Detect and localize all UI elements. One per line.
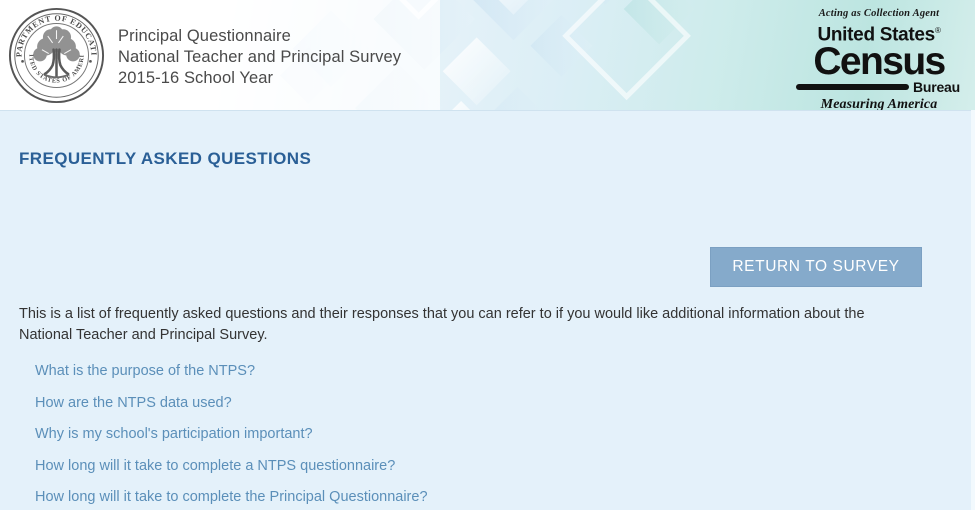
census-bureau-logo: Acting as Collection Agent United States… bbox=[796, 8, 962, 110]
faq-page: DEPARTMENT OF EDUCATION UNITED STATES OF… bbox=[0, 0, 975, 510]
header-title-block: Principal Questionnaire National Teacher… bbox=[118, 26, 401, 89]
list-item: What is the purpose of the NTPS? bbox=[35, 362, 935, 394]
list-item: Why is my school's participation importa… bbox=[35, 425, 935, 457]
list-item: How long will it take to complete the Pr… bbox=[35, 488, 935, 510]
page-title: FREQUENTLY ASKED QUESTIONS bbox=[19, 149, 311, 169]
census-collection-agent-text: Acting as Collection Agent bbox=[796, 8, 962, 20]
faq-link-purpose[interactable]: What is the purpose of the NTPS? bbox=[35, 362, 255, 381]
return-to-survey-button[interactable]: RETURN TO SURVEY bbox=[710, 247, 922, 287]
census-united-states-text: United States® bbox=[817, 20, 940, 45]
census-wordmark: Census bbox=[796, 44, 962, 79]
header-title-line-2: National Teacher and Principal Survey bbox=[118, 47, 401, 68]
census-trademark: ® bbox=[935, 26, 941, 35]
census-rule-bar bbox=[796, 84, 909, 90]
header-title-line-3: 2015-16 School Year bbox=[118, 68, 401, 89]
faq-link-list: What is the purpose of the NTPS? How are… bbox=[35, 362, 935, 510]
main-content: FREQUENTLY ASKED QUESTIONS RETURN TO SUR… bbox=[0, 110, 975, 510]
census-measuring-america-text: Measuring America bbox=[796, 96, 962, 110]
page-header: DEPARTMENT OF EDUCATION UNITED STATES OF… bbox=[0, 0, 975, 110]
header-title-line-1: Principal Questionnaire bbox=[118, 26, 401, 47]
faq-link-participation[interactable]: Why is my school's participation importa… bbox=[35, 425, 313, 444]
faq-link-time-principal[interactable]: How long will it take to complete the Pr… bbox=[35, 488, 428, 507]
intro-paragraph: This is a list of frequently asked quest… bbox=[19, 304, 909, 346]
faq-link-time-ntps[interactable]: How long will it take to complete a NTPS… bbox=[35, 457, 395, 476]
department-of-education-seal-icon: DEPARTMENT OF EDUCATION UNITED STATES OF… bbox=[8, 7, 105, 104]
list-item: How are the NTPS data used? bbox=[35, 394, 935, 426]
census-bureau-text: Bureau bbox=[913, 80, 960, 94]
faq-link-data-used[interactable]: How are the NTPS data used? bbox=[35, 394, 232, 413]
list-item: How long will it take to complete a NTPS… bbox=[35, 457, 935, 489]
